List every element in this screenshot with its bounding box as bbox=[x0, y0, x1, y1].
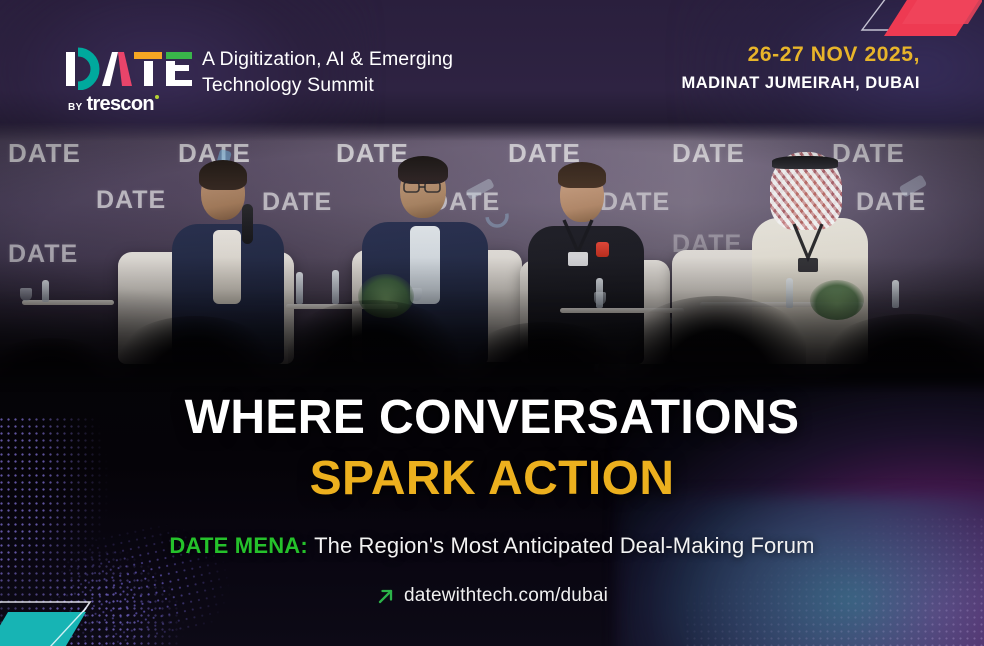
date-logo[interactable]: BY trescon bbox=[66, 44, 198, 114]
event-tagline: A Digitization, AI & Emerging Technology… bbox=[202, 46, 502, 98]
cta-url-row[interactable]: datewithtech.com/dubai bbox=[0, 585, 984, 607]
trescon-wordmark: trescon bbox=[87, 94, 158, 114]
subheadline-accent: DATE MENA: bbox=[169, 533, 307, 558]
headline-primary: WHERE CONVERSATIONS bbox=[0, 392, 984, 444]
event-dates: 26-27 NOV 2025, bbox=[681, 42, 920, 68]
trescon-text: trescon bbox=[87, 93, 154, 115]
message-block: WHERE CONVERSATIONS SPARK ACTION DATE ME… bbox=[0, 392, 984, 607]
trescon-byline: BY trescon bbox=[66, 94, 198, 114]
cta-url-text[interactable]: datewithtech.com/dubai bbox=[404, 585, 608, 607]
photo-dim-overlay bbox=[0, 122, 984, 392]
conference-photo: DATE DATE DATE DATE DATE DATE DATE DATE … bbox=[0, 122, 984, 392]
event-details: 26-27 NOV 2025, MADINAT JUMEIRAH, DUBAI bbox=[681, 42, 920, 94]
subheadline: DATE MENA: The Region's Most Anticipated… bbox=[0, 532, 984, 560]
trescon-dot-icon bbox=[155, 95, 159, 99]
subheadline-rest: The Region's Most Anticipated Deal-Makin… bbox=[308, 533, 815, 558]
headline-accent: SPARK ACTION bbox=[0, 453, 984, 505]
subheadline-rest-text: The Region's Most Anticipated Deal-Makin… bbox=[314, 533, 814, 558]
banner-header: BY trescon A Digitization, AI & Emerging… bbox=[0, 0, 984, 122]
arrow-up-right-icon bbox=[376, 587, 395, 606]
event-venue: MADINAT JUMEIRAH, DUBAI bbox=[681, 74, 920, 94]
promo-banner: DATE DATE DATE DATE DATE DATE DATE DATE … bbox=[0, 0, 984, 646]
date-logo-mark bbox=[66, 44, 192, 90]
by-label: BY bbox=[68, 103, 83, 114]
